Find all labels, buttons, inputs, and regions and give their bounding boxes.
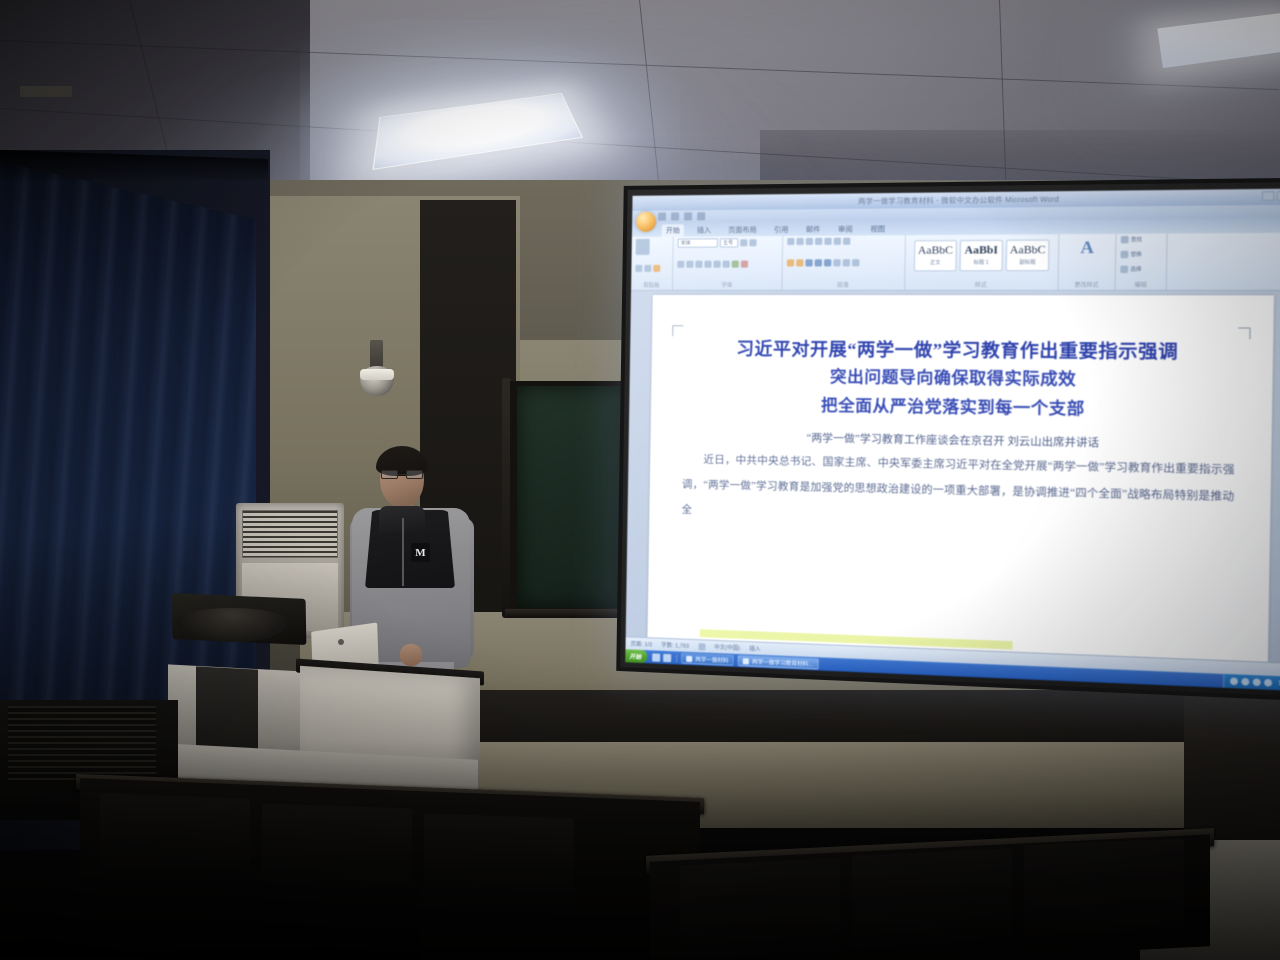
status-language[interactable]: 中文(中国) bbox=[714, 643, 740, 652]
change-styles-icon[interactable]: A bbox=[1075, 236, 1100, 259]
minimize-button[interactable] bbox=[1262, 191, 1275, 201]
save-icon[interactable] bbox=[658, 213, 666, 221]
ceiling-light-panel-secondary bbox=[1157, 13, 1280, 68]
sort-icon[interactable] bbox=[834, 238, 841, 245]
format-painter-icon[interactable] bbox=[653, 264, 660, 271]
replace-icon[interactable] bbox=[1121, 251, 1129, 258]
network-icon[interactable] bbox=[1230, 677, 1238, 685]
air-conditioner-panel bbox=[20, 86, 72, 97]
styles-gallery[interactable]: AaBbC 正文 AaBbI 标题 1 AaBbC 副标题 bbox=[910, 236, 1054, 274]
equipment-rack-vents bbox=[8, 706, 156, 784]
font-name-input[interactable]: 宋体 bbox=[678, 238, 718, 247]
grow-font-icon[interactable] bbox=[740, 239, 747, 246]
desk-row-front bbox=[0, 875, 420, 960]
glasses-icon bbox=[381, 470, 423, 479]
style-heading-1[interactable]: AaBbI 标题 1 bbox=[960, 240, 1003, 271]
find-label[interactable]: 查找 bbox=[1131, 236, 1142, 243]
subscript-icon[interactable] bbox=[713, 261, 720, 268]
select-label[interactable]: 选择 bbox=[1130, 266, 1141, 273]
taskbar-item-label: 两学一做材料 bbox=[695, 655, 728, 664]
glasses-bridge bbox=[398, 474, 406, 475]
start-button[interactable]: 开始 bbox=[625, 649, 647, 663]
status-words: 字数: 1,793 bbox=[661, 641, 689, 650]
projection-screen: 两学一做学习教育材料 - 微软中文办公软件 Microsoft Word 开始 … bbox=[616, 178, 1280, 702]
classroom-scene: 两学一做学习教育材料 - 微软中文办公软件 Microsoft Word 开始 … bbox=[0, 0, 1280, 960]
justify-icon[interactable] bbox=[815, 259, 822, 266]
document-page[interactable]: 习近平对开展“两学一做”学习教育作出重要指示强调 突出问题导向确保取得实际成效 … bbox=[648, 295, 1274, 662]
ribbon-tab-view[interactable]: 视图 bbox=[866, 223, 889, 236]
status-insert-mode[interactable]: 插入 bbox=[749, 644, 760, 653]
proofing-icon[interactable] bbox=[698, 643, 705, 650]
find-icon[interactable] bbox=[1121, 236, 1129, 243]
ribbon-group-font[interactable]: 宋体 五号 字体 bbox=[673, 236, 783, 290]
ribbon[interactable]: 剪贴板 宋体 五号 bbox=[631, 233, 1280, 291]
increase-indent-icon[interactable] bbox=[824, 238, 831, 245]
ribbon-group-editing[interactable]: 查找 替换 选择 编辑 bbox=[1116, 234, 1168, 290]
align-center-icon[interactable] bbox=[796, 259, 803, 266]
superscript-icon[interactable] bbox=[723, 261, 730, 268]
show-desktop-icon[interactable] bbox=[663, 653, 671, 661]
ribbon-group-label: 剪贴板 bbox=[635, 281, 668, 289]
ribbon-group-label: 字体 bbox=[677, 281, 777, 289]
ribbon-tab-home[interactable]: 开始 bbox=[662, 224, 684, 236]
ribbon-group-label: 段落 bbox=[786, 281, 900, 289]
ribbon-group-styles[interactable]: AaBbC 正文 AaBbI 标题 1 AaBbC 副标题 样式 bbox=[905, 234, 1059, 290]
ribbon-tab-page-layout[interactable]: 页面布局 bbox=[724, 224, 761, 236]
chair-back bbox=[1024, 838, 1184, 937]
style-label: 副标题 bbox=[1019, 259, 1035, 266]
chair-back bbox=[852, 848, 1012, 947]
glasses-lens-left bbox=[381, 470, 398, 479]
ceiling-grid-line bbox=[639, 0, 661, 199]
chair-back bbox=[424, 813, 574, 914]
ribbon-group-paragraph[interactable]: 段落 bbox=[782, 235, 906, 290]
folder-icon bbox=[686, 655, 692, 661]
jacket-logo: M bbox=[411, 543, 430, 562]
strikethrough-icon[interactable] bbox=[704, 261, 711, 268]
ribbon-tab-insert[interactable]: 插入 bbox=[693, 224, 715, 236]
underline-icon[interactable] bbox=[695, 261, 702, 268]
ribbon-tab-review[interactable]: 审阅 bbox=[834, 223, 857, 235]
presenter-hand bbox=[400, 644, 422, 666]
multilevel-list-icon[interactable] bbox=[806, 238, 813, 245]
borders-icon[interactable] bbox=[852, 259, 859, 266]
taskbar-item-folder[interactable]: 两学一做材料 bbox=[681, 653, 734, 666]
document-paragraph-1: 近日，中共中央总书记、国家主席、中央军委主席习近平对在全党开展“两学一做”学习教… bbox=[681, 448, 1235, 537]
copy-icon[interactable] bbox=[644, 264, 651, 271]
chair-back bbox=[680, 858, 840, 957]
chalk-tray bbox=[505, 609, 631, 618]
green-chalkboard bbox=[510, 381, 628, 613]
paste-icon[interactable] bbox=[636, 239, 650, 255]
margin-mark-top-right bbox=[1238, 327, 1251, 339]
align-right-icon[interactable] bbox=[805, 259, 812, 266]
window-controls[interactable] bbox=[1262, 191, 1280, 201]
select-icon[interactable] bbox=[1120, 266, 1128, 273]
ribbon-group-label: 样式 bbox=[909, 281, 1053, 289]
shrink-font-icon[interactable] bbox=[749, 239, 756, 246]
shading-icon[interactable] bbox=[843, 259, 850, 266]
style-label: 正文 bbox=[930, 259, 941, 266]
decrease-indent-icon[interactable] bbox=[815, 238, 822, 245]
redo-icon[interactable] bbox=[684, 212, 692, 220]
customize-icon[interactable] bbox=[697, 212, 705, 220]
security-camera-band bbox=[360, 369, 394, 380]
input-method-icon[interactable] bbox=[1253, 678, 1261, 686]
ribbon-group-label: 编辑 bbox=[1120, 280, 1161, 289]
style-normal[interactable]: AaBbC 正文 bbox=[914, 240, 957, 271]
document-heading-3: 把全面从严治党落实到每一个支部 bbox=[683, 391, 1236, 427]
change-styles-label: 更改样式 bbox=[1074, 280, 1098, 288]
undo-icon[interactable] bbox=[671, 212, 679, 220]
change-styles-button[interactable]: A 更改样式 bbox=[1059, 234, 1117, 290]
ribbon-tab-mailings[interactable]: 邮件 bbox=[802, 223, 825, 235]
ribbon-group-clipboard[interactable]: 剪贴板 bbox=[631, 237, 674, 290]
bold-icon[interactable] bbox=[677, 261, 684, 268]
replace-label[interactable]: 替换 bbox=[1131, 251, 1142, 258]
style-preview: AaBbI bbox=[964, 245, 998, 257]
volume-icon[interactable] bbox=[1242, 678, 1250, 686]
window-title: 两学一做学习教育材料 - 微软中文办公软件 Microsoft Word bbox=[858, 194, 1059, 206]
glasses-lens-right bbox=[406, 470, 423, 479]
style-preview: AaBbC bbox=[1010, 245, 1046, 257]
numbering-icon[interactable] bbox=[796, 238, 803, 245]
ribbon-tab-references[interactable]: 引用 bbox=[770, 224, 793, 236]
style-preview: AaBbC bbox=[918, 245, 953, 257]
show-marks-icon[interactable] bbox=[843, 238, 850, 245]
font-color-icon[interactable] bbox=[741, 261, 748, 268]
distribute-icon[interactable] bbox=[824, 259, 831, 266]
cut-icon[interactable] bbox=[635, 264, 642, 271]
presenter-zipper bbox=[402, 518, 404, 586]
style-label: 标题 1 bbox=[973, 259, 988, 266]
status-pages: 页面: 1/3 bbox=[630, 639, 652, 648]
font-size-input[interactable]: 五号 bbox=[720, 238, 738, 247]
quick-launch-bar[interactable] bbox=[647, 653, 677, 662]
align-left-icon[interactable] bbox=[787, 259, 794, 266]
document-heading-1: 习近平对开展“两学一做”学习教育作出重要指示强调 bbox=[684, 335, 1237, 367]
projected-desktop: 两学一做学习教育材料 - 微软中文办公软件 Microsoft Word 开始 … bbox=[625, 189, 1280, 692]
taskbar-item-word[interactable]: 两学一做学习教育材料... bbox=[738, 655, 819, 670]
italic-icon[interactable] bbox=[686, 261, 693, 268]
line-spacing-icon[interactable] bbox=[833, 259, 840, 266]
air-conditioner-grille bbox=[242, 510, 338, 558]
system-tray[interactable]: 10:25 bbox=[1223, 674, 1280, 691]
podium-lock-icon[interactable] bbox=[338, 639, 344, 645]
document-area[interactable]: 习近平对开展“两学一做”学习教育作出重要指示强调 突出问题导向确保取得实际成效 … bbox=[626, 291, 1280, 663]
margin-mark-top-left bbox=[672, 325, 683, 336]
word-icon bbox=[743, 658, 749, 664]
bullets-icon[interactable] bbox=[787, 238, 794, 245]
style-subtitle[interactable]: AaBbC 副标题 bbox=[1006, 240, 1050, 272]
ie-icon[interactable] bbox=[652, 653, 660, 661]
shield-icon[interactable] bbox=[1264, 679, 1272, 687]
taskbar-item-label: 两学一做学习教育材料... bbox=[752, 657, 813, 668]
text-highlight-icon[interactable] bbox=[732, 261, 739, 268]
